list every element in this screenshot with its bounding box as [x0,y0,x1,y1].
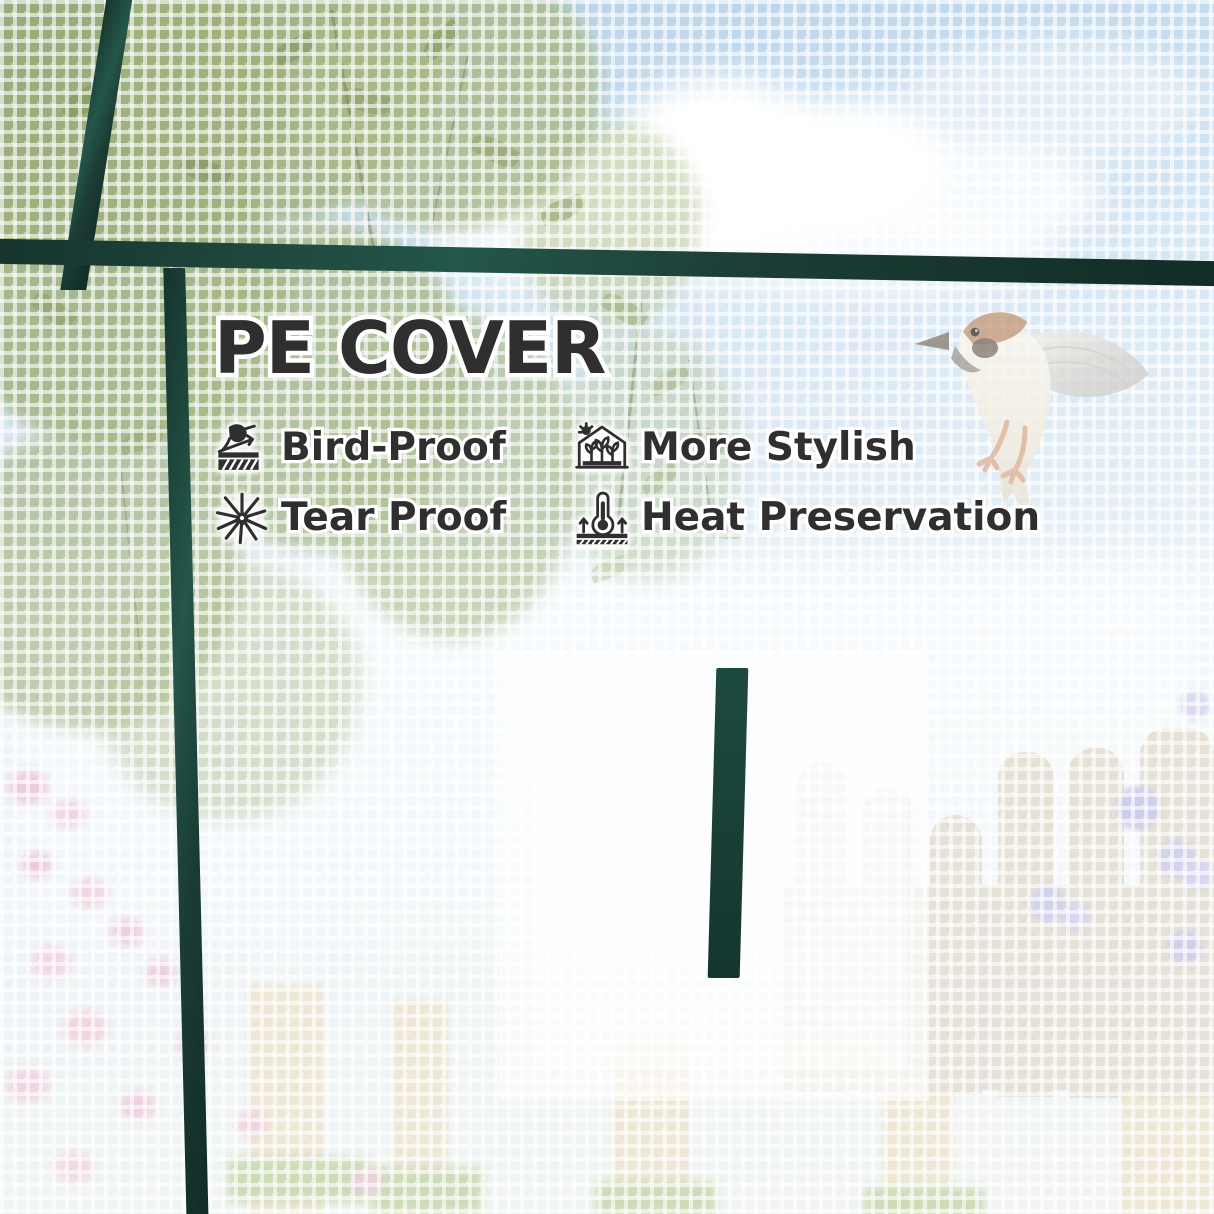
feature-item-heat-preservation: Heat Preservation [574,490,1054,546]
tear-proof-icon [214,490,270,546]
feature-item-tear-proof: Tear Proof [214,490,564,546]
feature-list: Bird-Proof [214,420,1054,546]
greenhouse-style-icon [574,420,630,476]
feature-label-tear-proof: Tear Proof [281,498,506,539]
feature-label-bird-proof: Bird-Proof [281,428,506,469]
feature-callout-block: PE COVER [214,312,1054,546]
feature-item-more-stylish: More Stylish [574,420,1054,476]
feature-label-heat-preservation: Heat Preservation [641,498,1040,539]
feature-label-more-stylish: More Stylish [641,428,916,469]
bird-proof-icon [214,420,270,476]
feature-item-bird-proof: Bird-Proof [214,420,564,476]
page-title: PE COVER [214,312,1054,384]
thermometer-heat-icon [574,490,630,546]
product-feature-image: PE COVER [0,0,1214,1214]
